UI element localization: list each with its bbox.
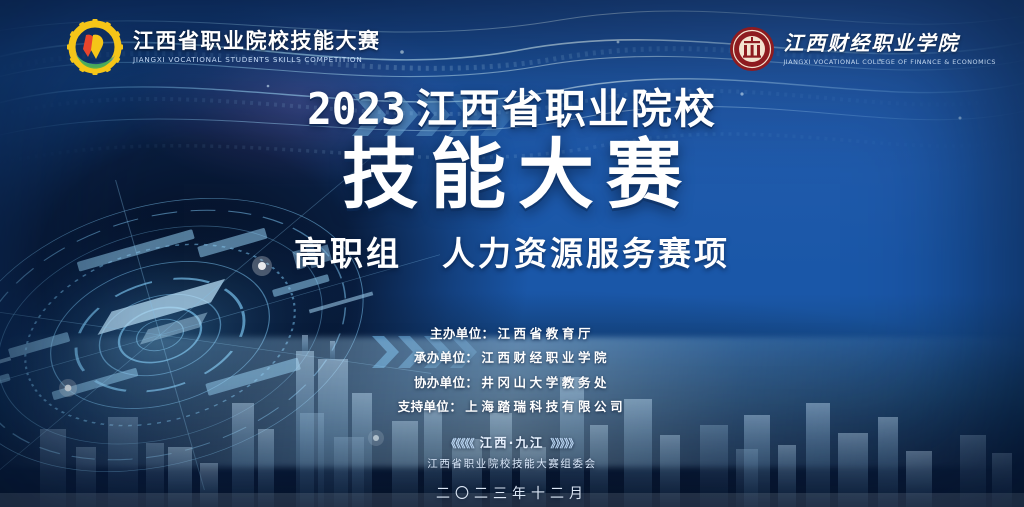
competition-logo-cn: 江西省职业院校技能大赛 [133,30,381,54]
title-year: 2023 [307,87,406,133]
footer-date: 二〇二三年十二月 [0,483,1024,503]
right-carets-decoration: 》》》》》 [550,437,578,450]
organizer-name: 上海踏瑞科技有限公司 [465,399,626,414]
title-line-2: 技能大赛 [0,135,1024,214]
title-block: 2023江西省职业院校 技能大赛 高职组人力资源服务赛项 [0,88,1024,273]
organizer-row: 主办单位：江西省教育厅 [0,322,1024,346]
organizer-name: 江西省教育厅 [497,326,594,341]
footer-committee: 江西省职业院校技能大赛组委会 [0,456,1024,471]
organizer-name: 江西财经职业学院 [481,350,610,365]
subtitle-group: 高职组 [294,234,402,273]
event-banner: 江西省职业院校技能大赛 JIANGXI VOCATIONAL STUDENTS … [0,0,1024,507]
banner-footer: 《《《《《江西·九江》》》》》 江西省职业院校技能大赛组委会 二〇二三年十二月 [0,432,1024,503]
organizer-name: 井冈山大学教务处 [481,375,610,390]
left-carets-decoration: 《《《《《 [446,437,474,450]
organizer-role: 协办单位： [414,375,479,390]
organizer-row: 承办单位：江西财经职业学院 [0,346,1024,370]
title-line-1: 2023江西省职业院校 [0,88,1024,131]
title-line-1-text: 江西省职业院校 [416,85,717,133]
college-logo: 江西财经职业学院 JIANGXI VOCATIONAL COLLEGE OF F… [729,26,996,72]
competition-logo-en: JIANGXI VOCATIONAL STUDENTS SKILLS COMPE… [133,55,381,64]
competition-logo: 江西省职业院校技能大赛 JIANGXI VOCATIONAL STUDENTS … [66,18,381,76]
organizer-role: 支持单位： [398,399,463,414]
college-logo-en: JIANGXI VOCATIONAL COLLEGE OF FINANCE & … [783,58,996,66]
college-logo-cn: 江西财经职业学院 [783,32,996,55]
college-seal-icon [729,26,775,72]
subtitle-event: 人力资源服务赛项 [442,234,730,273]
organizer-row: 协办单位：井冈山大学教务处 [0,371,1024,395]
organizer-role: 承办单位： [414,350,479,365]
organizer-role: 主办单位： [430,326,495,341]
footer-place: 江西·九江 [480,435,545,450]
organizer-row: 支持单位：上海踏瑞科技有限公司 [0,395,1024,419]
gear-emblem-icon [66,18,124,76]
subtitle-line: 高职组人力资源服务赛项 [0,236,1024,272]
footer-place-line: 《《《《《江西·九江》》》》》 [0,432,1024,451]
organizer-list: 主办单位：江西省教育厅 承办单位：江西财经职业学院 协办单位：井冈山大学教务处 … [0,322,1024,420]
